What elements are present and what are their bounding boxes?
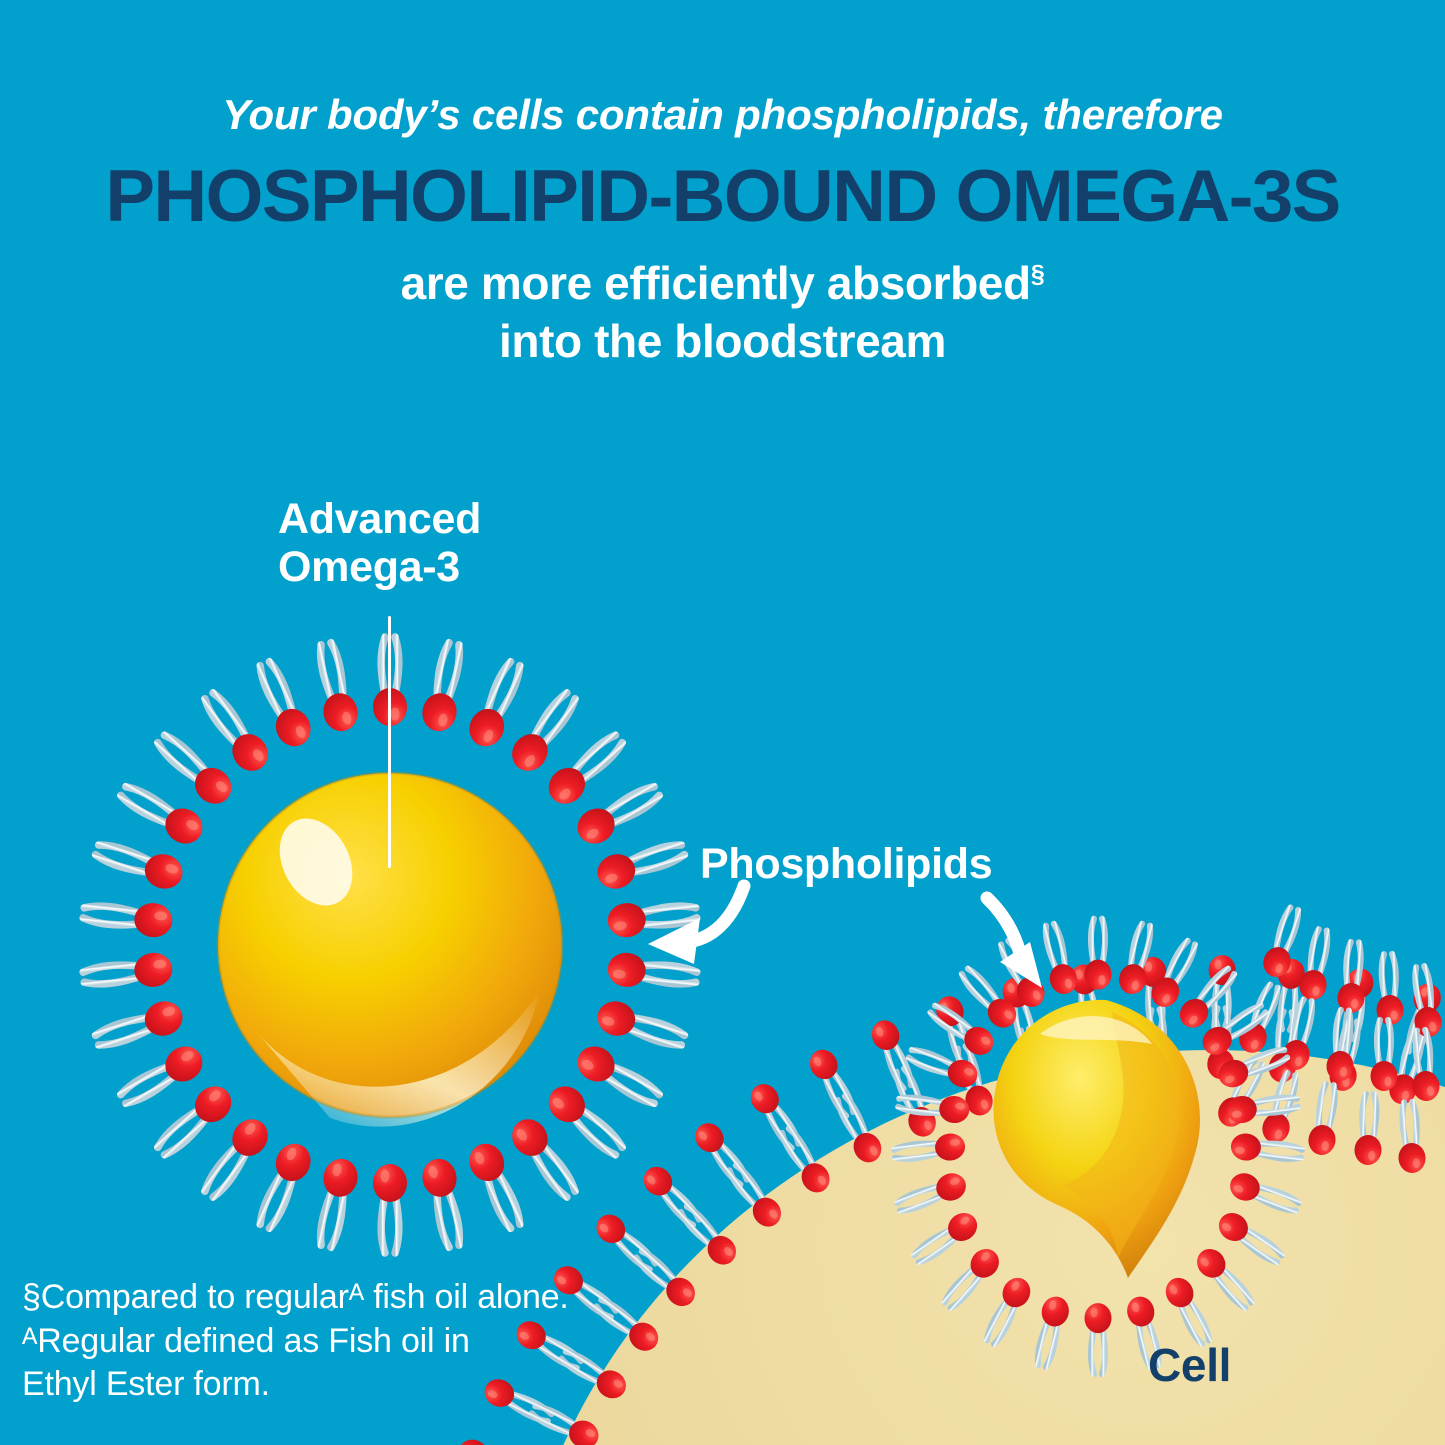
phospholipid — [92, 834, 187, 894]
infographic-canvas: Your body’s cells contain phospholipids,… — [0, 0, 1445, 1445]
headline-subline-2: into the bloodstream — [0, 317, 1445, 365]
footnotes: §Compared to regularᴬ fish oil alone. ᴬR… — [22, 1276, 569, 1407]
phospholipid — [505, 1112, 585, 1204]
micelle-entering-cell — [893, 919, 1303, 1374]
phospholipid — [505, 686, 585, 778]
headline-block: Your body’s cells contain phospholipids,… — [0, 0, 1445, 366]
phospholipid — [150, 726, 239, 811]
phospholipid — [309, 640, 361, 734]
phospholipid — [541, 726, 630, 811]
phospholipid — [92, 997, 187, 1057]
phospholipid — [115, 1040, 209, 1114]
phospholipid — [638, 1161, 706, 1231]
phospholipid — [690, 1118, 755, 1191]
phospholipid — [373, 1164, 407, 1253]
headline-subline-1: are more efficiently absorbed§ — [0, 259, 1445, 307]
phospholipid — [309, 1156, 361, 1250]
page-title: PHOSPHOLIPID-BOUND OMEGA-3S — [0, 160, 1445, 233]
phospholipid — [591, 1209, 662, 1277]
phospholipid — [571, 776, 665, 850]
phospholipid — [541, 1079, 630, 1164]
phospholipid — [195, 1112, 275, 1204]
phospholipid — [419, 640, 471, 734]
label-advanced-omega3: Advanced Omega-3 — [278, 495, 481, 591]
phospholipid — [571, 1040, 665, 1114]
phospholipid — [464, 1138, 531, 1233]
phospholipid — [1297, 928, 1336, 1003]
phospholipid — [1037, 921, 1080, 996]
footnote-marker-section: § — [1031, 261, 1045, 289]
phospholipid — [115, 776, 209, 850]
phospholipid — [1371, 1020, 1398, 1091]
phospholipid — [593, 997, 688, 1057]
phospholipid — [419, 1156, 471, 1250]
phospholipid — [82, 896, 174, 939]
phospholipid — [195, 686, 275, 778]
phospholipid — [455, 1435, 531, 1445]
headline-kicker: Your body’s cells contain phospholipids,… — [0, 92, 1445, 138]
phospholipid — [249, 657, 316, 752]
label-cell: Cell — [1148, 1338, 1231, 1392]
phospholipid — [150, 1079, 239, 1164]
label-phospholipids: Phospholipids — [700, 840, 992, 888]
phospholipid — [82, 951, 174, 994]
phospholipid — [1375, 954, 1404, 1026]
phospholipid — [464, 657, 531, 752]
phospholipid — [1085, 919, 1112, 990]
phospholipid — [249, 1138, 316, 1233]
headline-subline-1-text: are more efficiently absorbed — [401, 257, 1031, 309]
leader-line — [388, 616, 391, 868]
phospholipid — [593, 834, 688, 894]
